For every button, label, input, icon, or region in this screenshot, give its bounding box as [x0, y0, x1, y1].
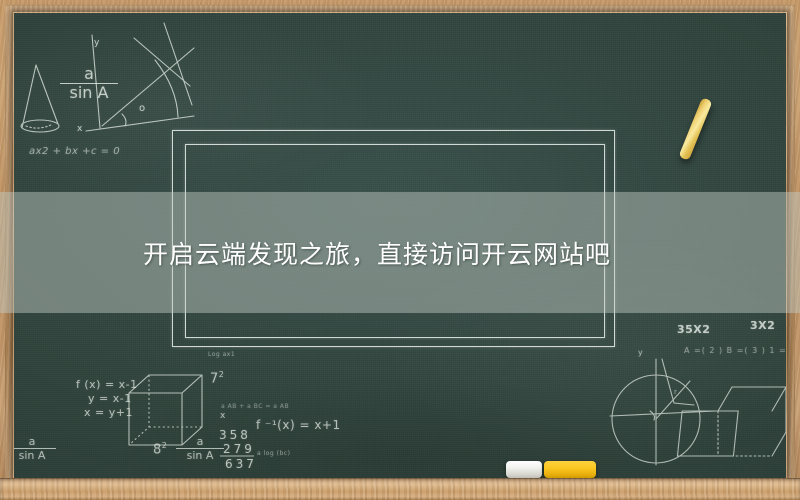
chalkboard-banner: y x o a sin A ax2 + bx +c = 0 f (x) = x-… [0, 0, 800, 500]
banner-caption: 开启云端发现之旅，直接访问开云网站吧 [143, 235, 611, 271]
caption-band: 开启云端发现之旅，直接访问开云网站吧 [0, 192, 800, 313]
chalk-ledge [0, 478, 800, 500]
